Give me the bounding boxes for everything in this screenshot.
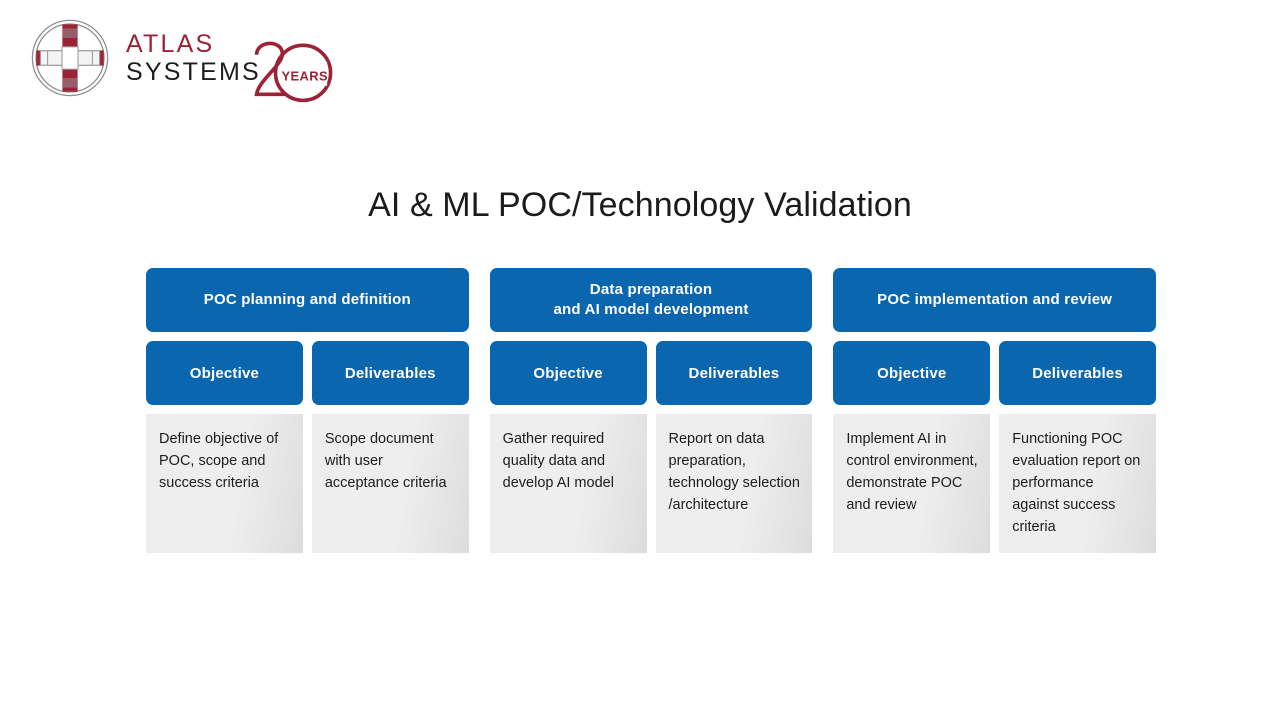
objective-body-1: Define objective of POC, scope and succe… xyxy=(146,414,303,553)
svg-text:YEARS: YEARS xyxy=(281,69,328,84)
deliverables-body-1: Scope document with user acceptance crit… xyxy=(312,414,469,553)
wordmark-atlas: ATLAS xyxy=(126,32,261,57)
objective-body-text-2: Gather required quality data and develop… xyxy=(503,428,635,494)
objective-body-3: Implement AI in control environment, dem… xyxy=(833,414,990,553)
phase-column-1: POC planning and definition Objective De… xyxy=(146,268,469,554)
objective-label-1[interactable]: Objective xyxy=(146,341,303,405)
phase-header-1[interactable]: POC planning and definition xyxy=(146,268,469,332)
deliverables-body-text-3: Functioning POC evaluation report on per… xyxy=(1012,428,1144,538)
wordmark-systems: SYSTEMS xyxy=(126,60,261,85)
objective-label-2[interactable]: Objective xyxy=(490,341,647,405)
phase-column-2: Data preparationand AI model development… xyxy=(490,268,813,554)
objective-body-text-3: Implement AI in control environment, dem… xyxy=(846,428,978,516)
poc-phases-diagram: POC planning and definition Objective De… xyxy=(146,268,1156,554)
deliverables-body-text-1: Scope document with user acceptance crit… xyxy=(325,428,457,494)
deliverables-label-2[interactable]: Deliverables xyxy=(656,341,813,405)
phase-subheaders-3: Objective Deliverables xyxy=(833,341,1156,405)
brand-wordmark: ATLAS SYSTEMS xyxy=(126,32,261,85)
phase-bodies-2: Gather required quality data and develop… xyxy=(490,414,813,553)
twenty-years-badge-icon: YEARS xyxy=(248,32,334,112)
phase-column-3: POC implementation and review Objective … xyxy=(833,268,1156,554)
deliverables-body-3: Functioning POC evaluation report on per… xyxy=(999,414,1156,553)
deliverables-body-2: Report on data preparation, technology s… xyxy=(656,414,813,553)
phase-header-3[interactable]: POC implementation and review xyxy=(833,268,1156,332)
phase-bodies-1: Define objective of POC, scope and succe… xyxy=(146,414,469,553)
page-title: AI & ML POC/Technology Validation xyxy=(0,186,1280,225)
deliverables-body-text-2: Report on data preparation, technology s… xyxy=(669,428,801,516)
phase-bodies-3: Implement AI in control environment, dem… xyxy=(833,414,1156,553)
phase-subheaders-1: Objective Deliverables xyxy=(146,341,469,405)
objective-body-2: Gather required quality data and develop… xyxy=(490,414,647,553)
objective-label-3[interactable]: Objective xyxy=(833,341,990,405)
deliverables-label-1[interactable]: Deliverables xyxy=(312,341,469,405)
atlas-cross-emblem-icon xyxy=(30,18,110,98)
phase-subheaders-2: Objective Deliverables xyxy=(490,341,813,405)
phase-header-2[interactable]: Data preparationand AI model development xyxy=(490,268,813,332)
deliverables-label-3[interactable]: Deliverables xyxy=(999,341,1156,405)
brand-logo: ATLAS SYSTEMS YEARS xyxy=(30,16,310,100)
objective-body-text-1: Define objective of POC, scope and succe… xyxy=(159,428,291,494)
